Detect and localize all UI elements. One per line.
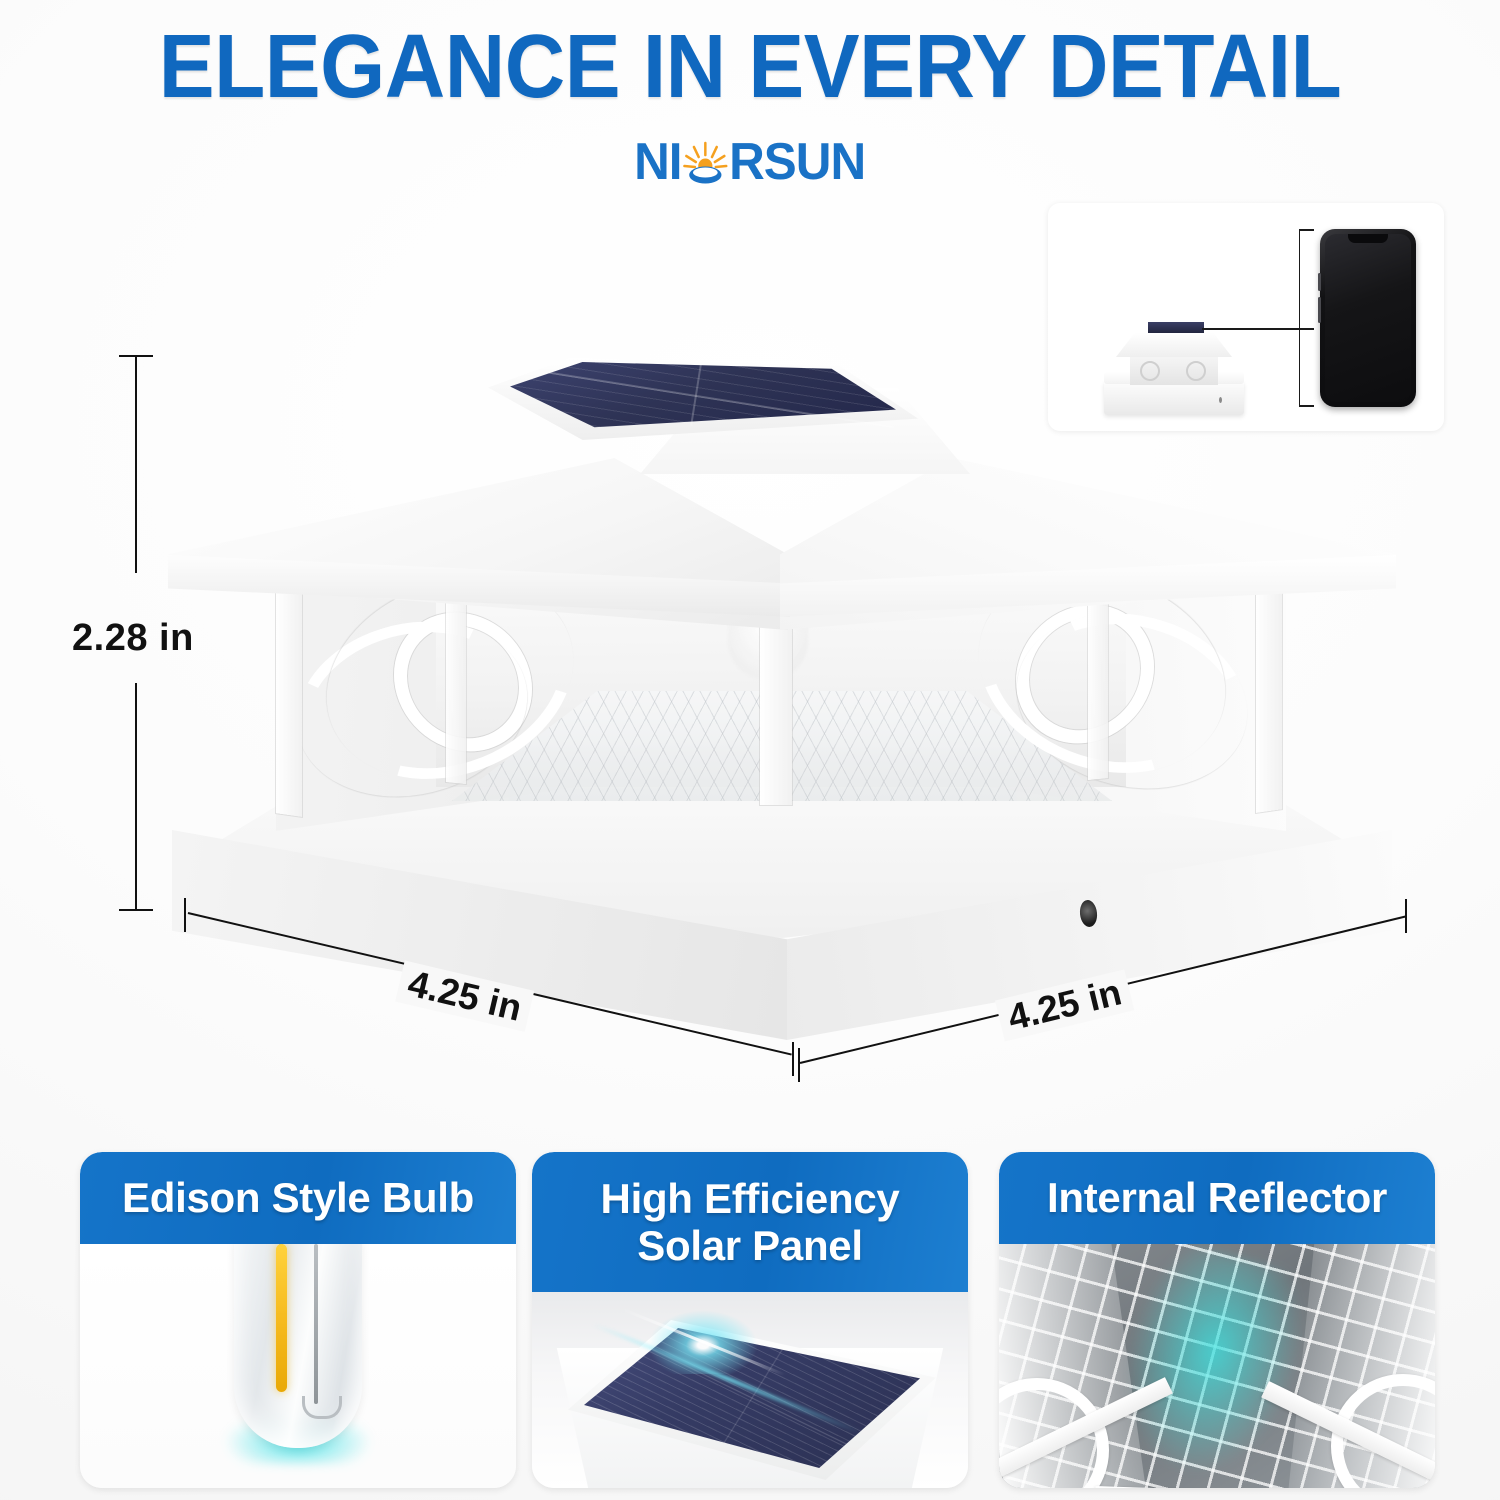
feature-card-title-internal-reflector: Internal Reflector xyxy=(999,1152,1435,1244)
width-left-cap-end xyxy=(792,1042,794,1076)
height-dimension-segment-upper xyxy=(135,355,137,573)
inset-leader-line xyxy=(1202,328,1314,330)
phone-volume-down-icon xyxy=(1318,297,1321,323)
phone-volume-up-icon xyxy=(1318,273,1321,291)
sunrise-icon xyxy=(683,139,729,185)
bulb-glass-envelope xyxy=(234,1244,362,1448)
edison-bulb-art xyxy=(80,1244,516,1488)
brand-logo: NI RSUN xyxy=(0,136,1500,194)
brand-prefix: NI xyxy=(634,136,682,188)
brand-suffix: RSUN xyxy=(729,136,865,188)
feature-card-edison-style-bulb: Edison Style Bulb xyxy=(80,1152,516,1488)
feature-card-internal-reflector: Internal Reflector xyxy=(999,1152,1435,1488)
width-left-cap-start xyxy=(184,898,186,932)
bulb-support-wire xyxy=(314,1244,318,1404)
solar-card-title-line-1: High Efficiency xyxy=(601,1175,900,1222)
bulb-filament xyxy=(276,1244,287,1392)
internal-reflector-art xyxy=(999,1244,1435,1488)
page-title: ELEGANCE IN EVERY DETAIL xyxy=(53,22,1448,112)
feature-card-title-edison-style-bulb: Edison Style Bulb xyxy=(80,1152,516,1244)
height-dimension-cap-bottom xyxy=(119,909,153,911)
light-flare-icon xyxy=(648,1310,758,1374)
height-dimension-segment-lower xyxy=(135,683,137,911)
inset-lamp-solar-panel xyxy=(1146,320,1206,335)
height-dimension-label: 2.28 in xyxy=(72,617,194,660)
feature-card-title-high-efficiency-solar-panel: High Efficiency Solar Panel xyxy=(532,1152,968,1292)
solar-panel-art xyxy=(532,1292,968,1488)
feature-cards: Edison Style Bulb High Efficiency Solar … xyxy=(0,1152,1500,1500)
cage-post-right xyxy=(1256,583,1282,813)
feature-card-high-efficiency-solar-panel: High Efficiency Solar Panel xyxy=(532,1152,968,1488)
width-right-cap-start xyxy=(798,1048,800,1082)
cage-post-left xyxy=(276,587,302,817)
solar-card-title-line-2: Solar Panel xyxy=(637,1222,862,1269)
width-right-cap-end xyxy=(1405,899,1407,933)
infographic-canvas: ELEGANCE IN EVERY DETAIL NI xyxy=(0,0,1500,1500)
